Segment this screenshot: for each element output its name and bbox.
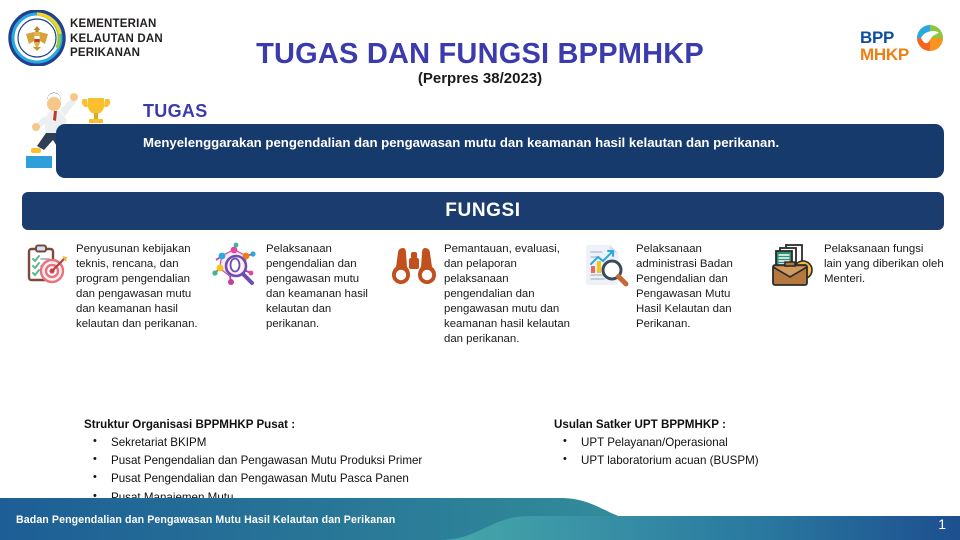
fungsi-item-3-text: Pemantauan, evaluasi, dan pelaporan pela… — [444, 240, 572, 347]
footer-text: Badan Pengendalian dan Pengawasan Mutu H… — [16, 514, 395, 526]
list-item: Pusat Pengendalian dan Pengawasan Mutu P… — [84, 470, 422, 488]
fungsi-item-5-text: Pelaksanaan fungsi lain yang diberikan o… — [824, 240, 944, 287]
fungsi-item-1: Penyusunan kebijakan teknis, rencana, da… — [22, 240, 212, 347]
fungsi-banner-label: FUNGSI — [445, 200, 520, 222]
list-item: UPT Pelayanan/Operasional — [554, 434, 759, 452]
page-number: 1 — [938, 516, 946, 532]
report-chart-magnifier-icon — [582, 242, 630, 290]
tugas-label: TUGAS — [143, 101, 208, 122]
page-title: TUGAS DAN FUNGSI BPPMHKP — [0, 38, 960, 71]
fungsi-banner: FUNGSI — [22, 192, 944, 230]
page-subtitle: (Perpres 38/2023) — [0, 70, 960, 87]
list-item: Pusat Pengendalian dan Pengawasan Mutu P… — [84, 452, 422, 470]
fungsi-item-5: Pelaksanaan fungsi lain yang diberikan o… — [770, 240, 952, 347]
ministry-name-line1: KEMENTERIAN — [70, 17, 163, 32]
usulan-satker-list: UPT Pelayanan/Operasional UPT laboratori… — [554, 434, 759, 470]
fungsi-item-2-text: Pelaksanaan pengendalian dan pengawasan … — [266, 240, 376, 332]
usulan-satker-heading: Usulan Satker UPT BPPMHKP : — [554, 418, 759, 431]
binoculars-icon — [390, 242, 438, 290]
fungsi-item-3: Pemantauan, evaluasi, dan pelaporan pela… — [390, 240, 582, 347]
fungsi-item-4-text: Pelaksanaan administrasi Badan Pengendal… — [636, 240, 758, 332]
slide-canvas: KEMENTERIAN KELAUTAN DAN PERIKANAN BPP M… — [0, 0, 960, 540]
fungsi-items-row: Penyusunan kebijakan teknis, rencana, da… — [22, 240, 952, 347]
usulan-satker-block: Usulan Satker UPT BPPMHKP : UPT Pelayana… — [554, 418, 759, 470]
clipboard-target-icon — [22, 242, 70, 290]
struktur-organisasi-block: Struktur Organisasi BPPMHKP Pusat : Sekr… — [84, 418, 422, 507]
struktur-organisasi-heading: Struktur Organisasi BPPMHKP Pusat : — [84, 418, 422, 431]
footer-bar: Badan Pengendalian dan Pengawasan Mutu H… — [0, 496, 960, 540]
fungsi-item-4: Pelaksanaan administrasi Badan Pengendal… — [582, 240, 770, 347]
molecule-magnifier-icon — [212, 242, 260, 290]
fungsi-item-1-text: Penyusunan kebijakan teknis, rencana, da… — [76, 240, 202, 332]
briefcase-documents-gear-icon — [770, 242, 818, 290]
fungsi-item-2: Pelaksanaan pengendalian dan pengawasan … — [212, 240, 390, 347]
tugas-text: Menyelenggarakan pengendalian dan pengaw… — [143, 133, 823, 152]
list-item: UPT laboratorium acuan (BUSPM) — [554, 452, 759, 470]
list-item: Sekretariat BKIPM — [84, 434, 422, 452]
